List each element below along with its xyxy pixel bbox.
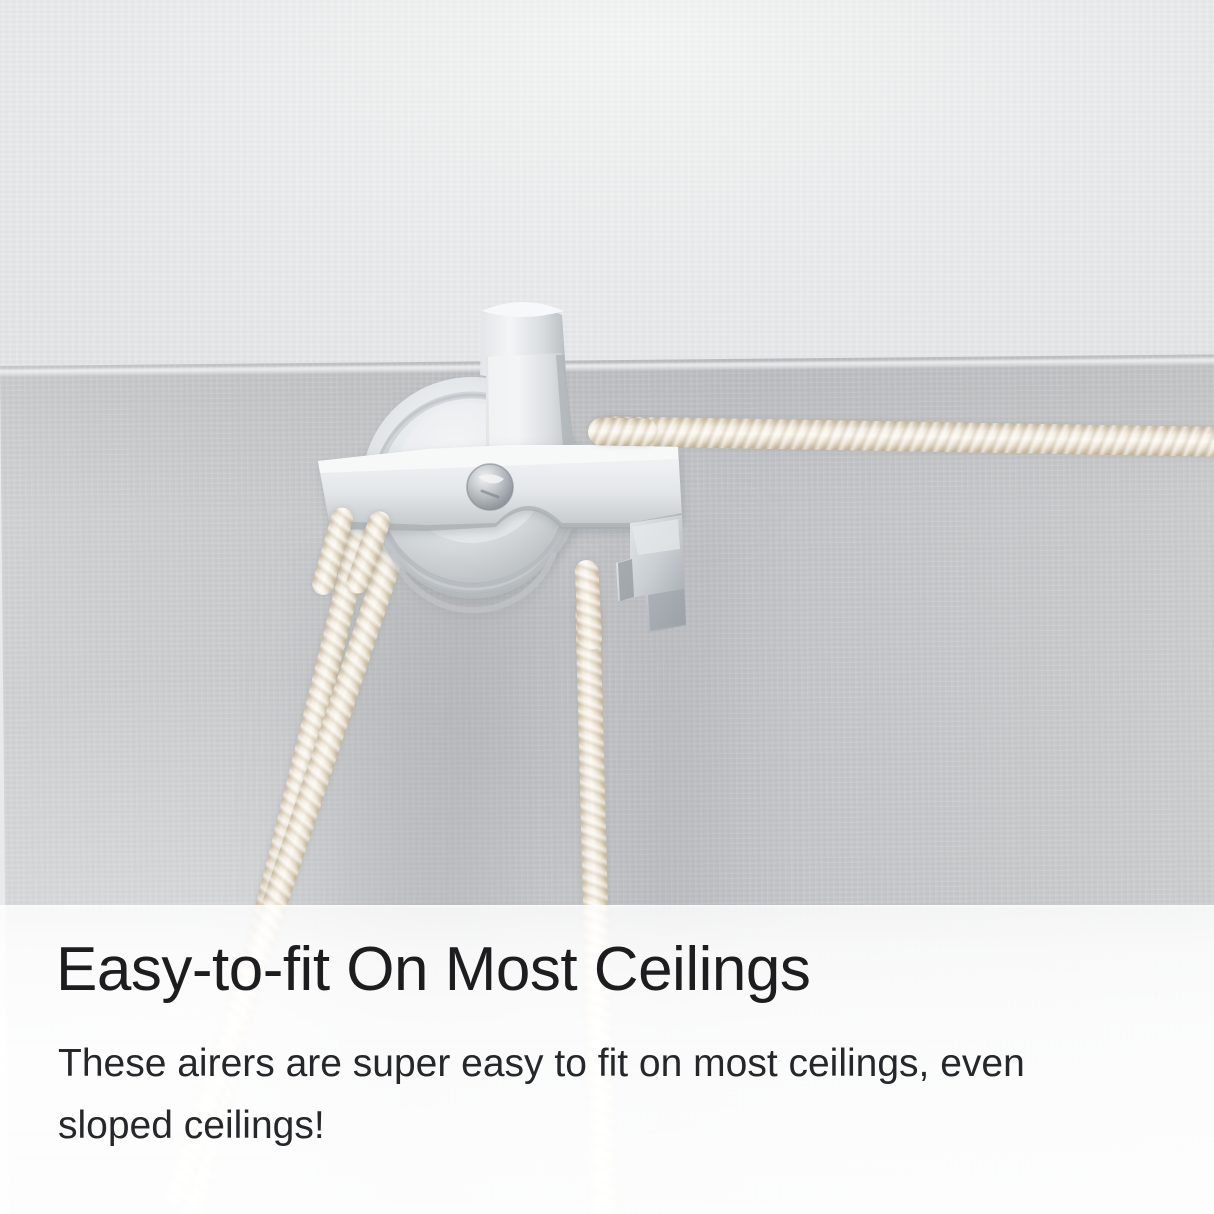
- product-feature-image: Easy-to-fit On Most Ceilings These airer…: [0, 0, 1214, 1214]
- caption-overlay-panel: Easy-to-fit On Most Ceilings These airer…: [0, 905, 1214, 1214]
- rope-lock-hook: [616, 515, 686, 633]
- rope-exit-wheel-centre: [574, 559, 603, 650]
- caption-body-text: These airers are super easy to fit on mo…: [58, 1033, 1118, 1156]
- pulley-hardware-assembly: [300, 295, 720, 695]
- rope-over-wheel-right: [588, 417, 658, 446]
- caption-headline: Easy-to-fit On Most Ceilings: [56, 937, 810, 1003]
- centre-fixing-screw: [467, 464, 513, 510]
